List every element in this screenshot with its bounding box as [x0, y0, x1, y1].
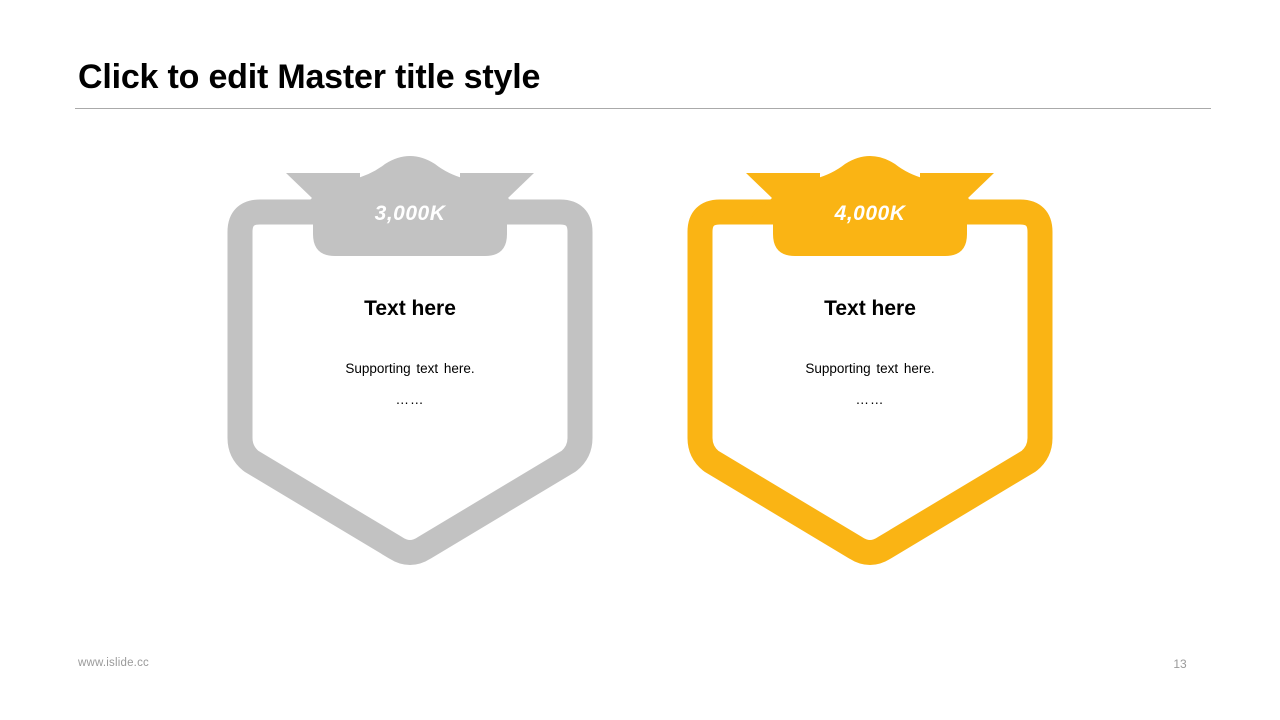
ribbon-banner-orange	[773, 156, 967, 256]
card-body-orange: Text here Supporting text here. ……	[720, 295, 1020, 409]
footer-url: www.islide.cc	[78, 657, 149, 669]
card-body-gray: Text here Supporting text here. ……	[260, 295, 560, 409]
shield-card-gray[interactable]: 3,000K Text here Supporting text here. ……	[200, 150, 620, 570]
card-dots-orange: ……	[720, 391, 1020, 409]
title-placeholder[interactable]: Click to edit Master title style	[78, 55, 1213, 110]
slide-canvas: Click to edit Master title style 3,000K …	[0, 0, 1280, 720]
ribbon-banner-gray	[313, 156, 507, 256]
page-title: Click to edit Master title style	[78, 55, 1213, 99]
card-heading-gray: Text here	[260, 295, 560, 323]
title-divider	[75, 108, 1211, 109]
card-dots-gray: ……	[260, 391, 560, 409]
footer-page-number: 13	[1150, 657, 1210, 671]
card-support-gray: Supporting text here.	[260, 359, 560, 379]
shield-card-orange[interactable]: 4,000K Text here Supporting text here. ……	[660, 150, 1080, 570]
card-support-orange: Supporting text here.	[720, 359, 1020, 379]
card-heading-orange: Text here	[720, 295, 1020, 323]
